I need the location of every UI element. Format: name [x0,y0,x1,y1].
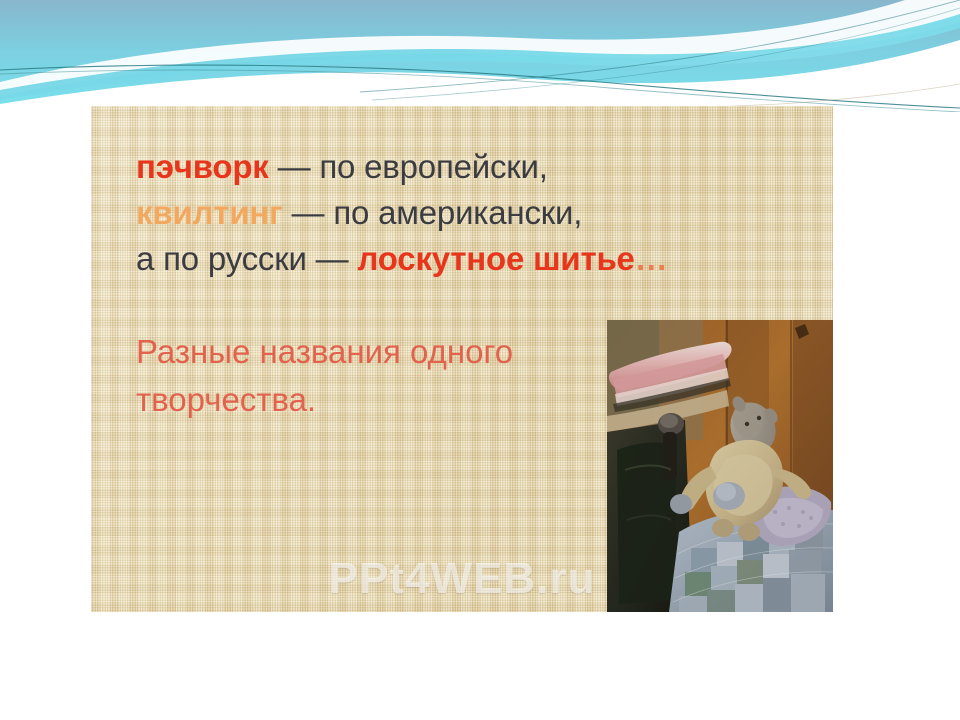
photo-graphic [607,320,833,612]
dash-2: — [283,194,334,231]
gloss-european: по европейски, [319,148,547,185]
wave-banner-graphic [0,0,960,112]
caption-line-1: пэчворк — по европейски, [136,144,826,190]
caption-block: пэчворк — по европейски, квилтинг — по а… [136,144,826,282]
term-patchwork: пэчворк [136,148,269,185]
slide-canvas: пэчворк — по европейски, квилтинг — по а… [0,0,960,720]
flow-wave-banner [0,0,960,112]
gloss-american: по американски, [333,194,582,231]
ellipsis-mark: … [635,240,668,277]
caption-line-2: квилтинг — по американски, [136,190,826,236]
caption-line-3: а по русски — лоскутное шитье… [136,236,826,282]
term-loskutnoe-shitye: лоскутное шитье [357,240,634,277]
patchwork-quilt-doll-photo [607,320,833,612]
lecture-slide-image: пэчворк — по европейски, квилтинг — по а… [91,106,833,612]
gloss-russian-intro: а по русски [136,240,307,277]
term-quilting: квилтинг [136,194,283,231]
dash-1: — [269,148,320,185]
dash-3: — [307,240,358,277]
